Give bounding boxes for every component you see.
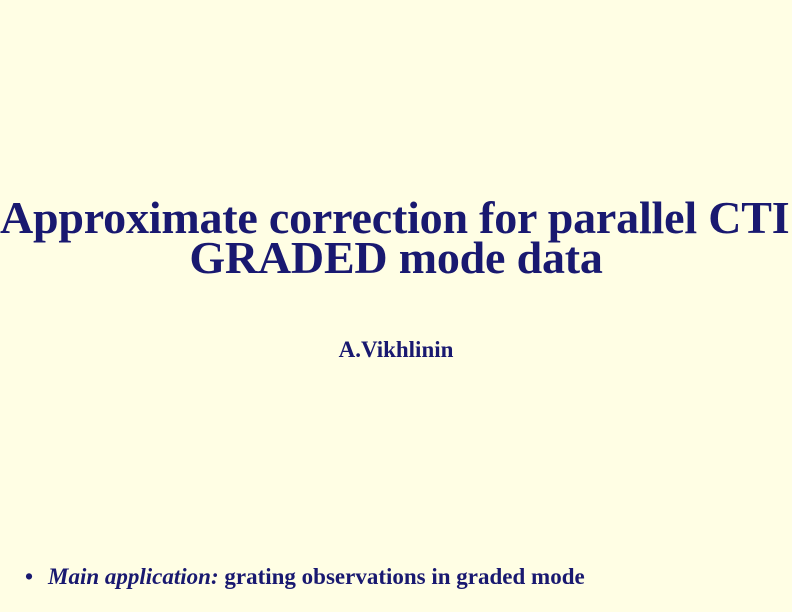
list-item-lead: Main application: [48, 564, 219, 589]
author-name: A.Vikhlinin [0, 337, 792, 363]
bullet-block: •Main application: grating observations … [0, 562, 792, 592]
author-block: A.Vikhlinin [0, 337, 792, 363]
page-title: Approximate correction for parallel CTI … [0, 198, 792, 278]
bullet-list: •Main application: grating observations … [0, 562, 792, 592]
page-title-line-2: GRADED mode data [0, 238, 792, 278]
title-block: Approximate correction for parallel CTI … [0, 198, 792, 278]
presentation-slide: Approximate correction for parallel CTI … [0, 0, 792, 612]
list-item-text: grating observations in graded mode [219, 564, 585, 589]
bullet-point-icon: • [25, 562, 33, 592]
list-item: •Main application: grating observations … [0, 562, 792, 592]
